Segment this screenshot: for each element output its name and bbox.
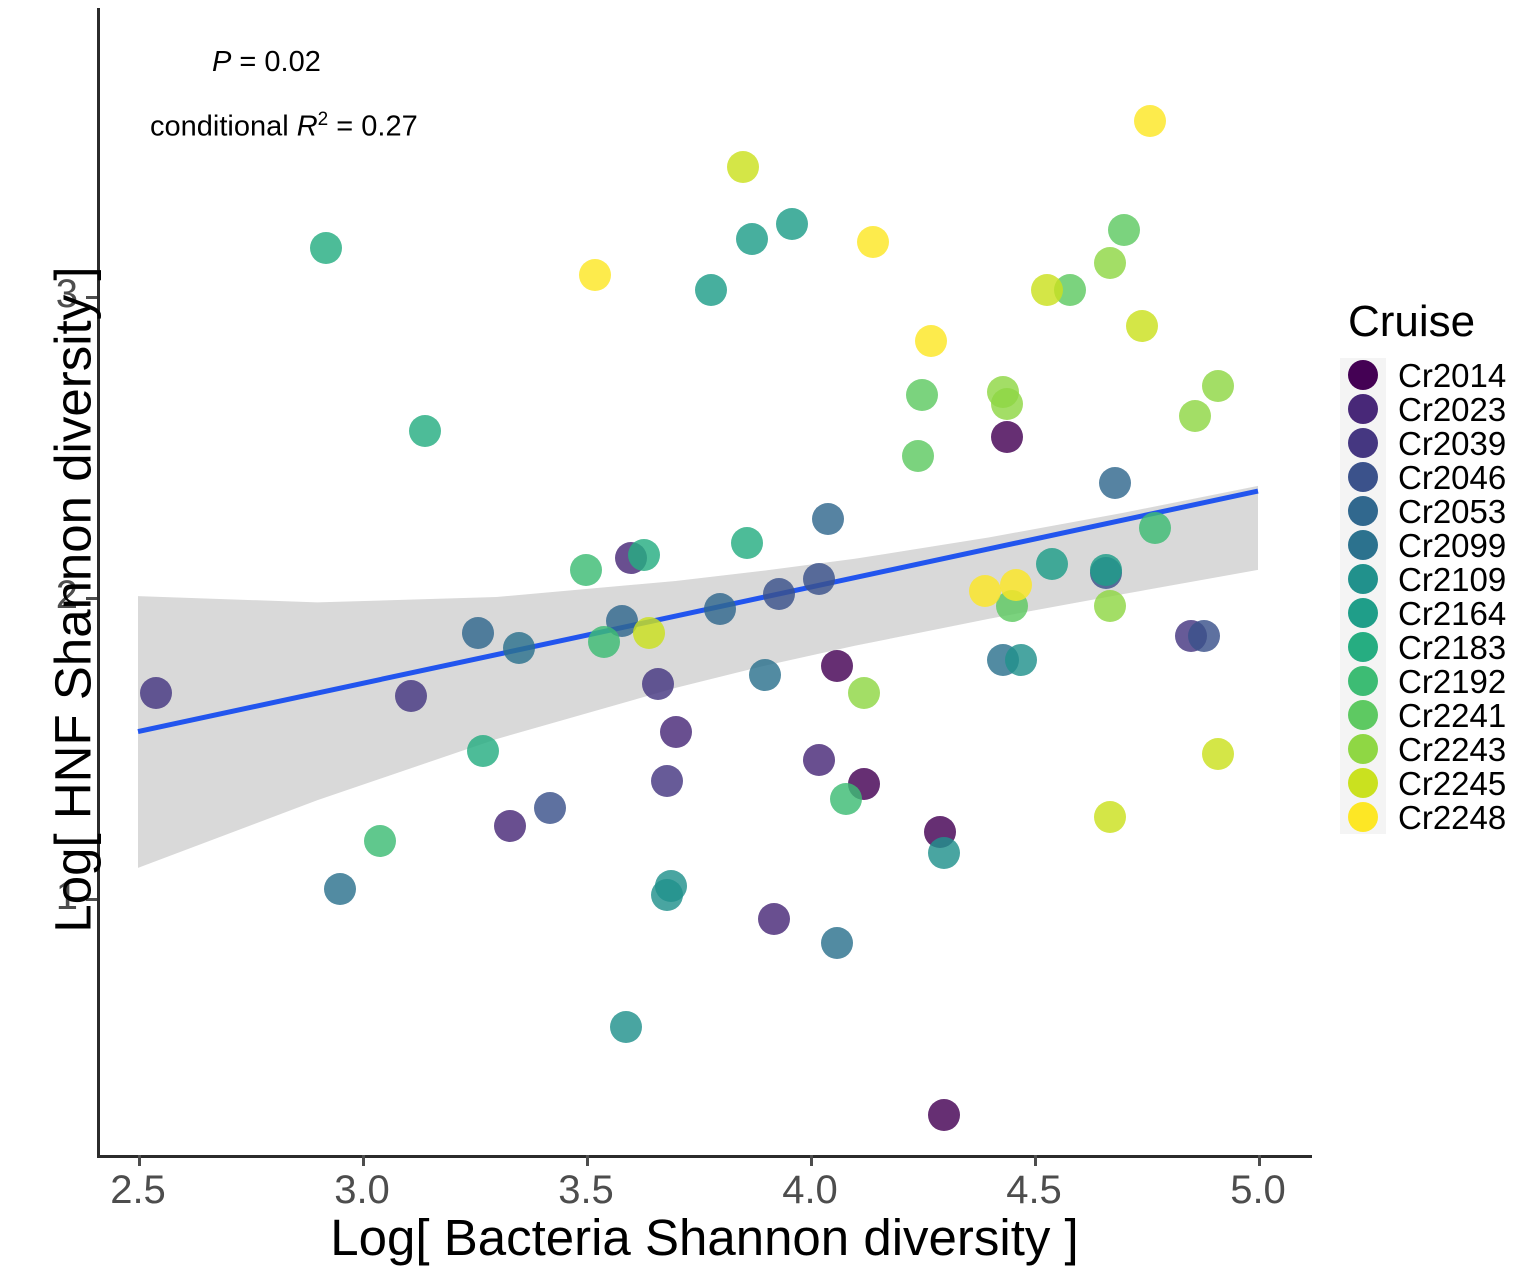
- legend-item-label: Cr2109: [1398, 563, 1506, 596]
- plot-panel: 2.53.03.54.04.55.0123 Log[ Bacteria Shan…: [0, 0, 1535, 1264]
- r2-value-text: = 0.27: [328, 111, 418, 143]
- legend-item-label: Cr2192: [1398, 665, 1506, 698]
- data-point: [503, 632, 535, 664]
- data-point: [588, 626, 620, 658]
- data-point: [731, 527, 763, 559]
- data-point: [1090, 554, 1122, 586]
- x-axis-tick-label: 3.5: [558, 1170, 614, 1210]
- legend-item-label: Cr2245: [1398, 767, 1506, 800]
- data-point: [1126, 310, 1158, 342]
- legend-swatch-icon: [1340, 562, 1386, 596]
- data-point: [534, 792, 566, 824]
- data-point: [1202, 738, 1234, 770]
- data-point: [1094, 590, 1126, 622]
- legend-item-label: Cr2023: [1398, 393, 1506, 426]
- legend-dot-icon: [1348, 734, 1378, 764]
- legend-item-cr2164[interactable]: Cr2164: [1340, 596, 1535, 630]
- legend-dot-icon: [1348, 428, 1378, 458]
- legend-item-cr2109[interactable]: Cr2109: [1340, 562, 1535, 596]
- data-point: [310, 232, 342, 264]
- legend-item-cr2243[interactable]: Cr2243: [1340, 732, 1535, 766]
- data-point: [651, 879, 683, 911]
- data-point: [848, 677, 880, 709]
- legend-swatch-icon: [1340, 664, 1386, 698]
- legend-swatch-icon: [1340, 800, 1386, 834]
- legend-swatch-icon: [1340, 596, 1386, 630]
- data-point: [1000, 569, 1032, 601]
- x-axis-tick-label: 3.0: [334, 1170, 390, 1210]
- data-point: [660, 716, 692, 748]
- data-point: [1094, 247, 1126, 279]
- legend-dot-icon: [1348, 700, 1378, 730]
- confidence-band: [138, 486, 1258, 868]
- legend-dot-icon: [1348, 496, 1378, 526]
- legend-item-label: Cr2099: [1398, 529, 1506, 562]
- data-point: [821, 650, 853, 682]
- data-point: [633, 617, 665, 649]
- data-point: [579, 259, 611, 291]
- legend-item-cr2039[interactable]: Cr2039: [1340, 426, 1535, 460]
- legend-item-label: Cr2241: [1398, 699, 1506, 732]
- legend-items: Cr2014Cr2023Cr2039Cr2046Cr2053Cr2099Cr21…: [1340, 358, 1535, 834]
- legend-item-cr2023[interactable]: Cr2023: [1340, 392, 1535, 426]
- data-point: [1094, 801, 1126, 833]
- r2-prefix: conditional: [150, 111, 297, 143]
- geometry-layer: [0, 0, 1535, 1264]
- x-axis-line: [97, 1155, 1312, 1158]
- data-point: [570, 554, 602, 586]
- data-point: [758, 903, 790, 935]
- legend-item-cr2245[interactable]: Cr2245: [1340, 766, 1535, 800]
- r2-superscript: 2: [318, 109, 329, 130]
- legend-swatch-icon: [1340, 460, 1386, 494]
- legend-title: Cruise: [1348, 300, 1535, 344]
- data-point: [494, 810, 526, 842]
- data-point: [928, 837, 960, 869]
- legend-swatch-icon: [1340, 766, 1386, 800]
- legend-item-label: Cr2014: [1398, 359, 1506, 392]
- x-axis-tick-label: 5.0: [1230, 1170, 1286, 1210]
- legend-dot-icon: [1348, 564, 1378, 594]
- data-point: [651, 765, 683, 797]
- legend-swatch-icon: [1340, 732, 1386, 766]
- data-point: [1005, 644, 1037, 676]
- x-axis-tick: [1258, 1155, 1261, 1166]
- data-point: [467, 735, 499, 767]
- data-point: [1036, 548, 1068, 580]
- legend-swatch-icon: [1340, 392, 1386, 426]
- data-point: [364, 825, 396, 857]
- data-point: [902, 440, 934, 472]
- data-point: [857, 226, 889, 258]
- legend-dot-icon: [1348, 632, 1378, 662]
- x-axis-tick-label: 4.0: [782, 1170, 838, 1210]
- data-point: [324, 873, 356, 905]
- data-point: [736, 223, 768, 255]
- x-axis-tick: [810, 1155, 813, 1166]
- legend: Cruise Cr2014Cr2023Cr2039Cr2046Cr2053Cr2…: [1340, 300, 1535, 834]
- y-axis-title: Log[ HNF Shannon diversity ]: [44, 50, 103, 1150]
- data-point: [409, 415, 441, 447]
- legend-item-label: Cr2039: [1398, 427, 1506, 460]
- legend-dot-icon: [1348, 598, 1378, 628]
- x-axis-tick: [138, 1155, 141, 1166]
- data-point: [140, 677, 172, 709]
- legend-item-cr2192[interactable]: Cr2192: [1340, 664, 1535, 698]
- p-value-text: = 0.02: [231, 46, 321, 78]
- x-axis-tick-label: 4.5: [1006, 1170, 1062, 1210]
- chart-root: 2.53.03.54.04.55.0123 Log[ Bacteria Shan…: [0, 0, 1535, 1264]
- legend-item-cr2053[interactable]: Cr2053: [1340, 494, 1535, 528]
- data-point: [763, 578, 795, 610]
- data-point: [812, 503, 844, 535]
- legend-dot-icon: [1348, 768, 1378, 798]
- legend-item-label: Cr2248: [1398, 801, 1506, 834]
- data-point: [1202, 370, 1234, 402]
- data-point: [928, 1099, 960, 1131]
- legend-item-cr2248[interactable]: Cr2248: [1340, 800, 1535, 834]
- p-value-annotation: P = 0.02: [212, 46, 321, 79]
- x-axis-tick: [586, 1155, 589, 1166]
- legend-dot-icon: [1348, 666, 1378, 696]
- legend-item-label: Cr2164: [1398, 597, 1506, 630]
- data-point: [1099, 467, 1131, 499]
- data-point: [803, 744, 835, 776]
- legend-item-label: Cr2053: [1398, 495, 1506, 528]
- legend-item-cr2099[interactable]: Cr2099: [1340, 528, 1535, 562]
- legend-item-cr2014[interactable]: Cr2014: [1340, 358, 1535, 392]
- legend-swatch-icon: [1340, 698, 1386, 732]
- legend-dot-icon: [1348, 360, 1378, 390]
- legend-swatch-icon: [1340, 494, 1386, 528]
- legend-swatch-icon: [1340, 426, 1386, 460]
- data-point: [1108, 214, 1140, 246]
- data-point: [776, 208, 808, 240]
- legend-item-label: Cr2183: [1398, 631, 1506, 664]
- data-point: [969, 575, 1001, 607]
- data-point: [821, 927, 853, 959]
- legend-swatch-icon: [1340, 528, 1386, 562]
- x-axis-tick: [1034, 1155, 1037, 1166]
- data-point: [803, 563, 835, 595]
- x-axis-title: Log[ Bacteria Shannon diversity ]: [97, 1208, 1312, 1267]
- legend-swatch-icon: [1340, 630, 1386, 664]
- legend-item-label: Cr2243: [1398, 733, 1506, 766]
- legend-item-cr2241[interactable]: Cr2241: [1340, 698, 1535, 732]
- legend-dot-icon: [1348, 802, 1378, 832]
- data-point: [987, 376, 1019, 408]
- legend-item-cr2046[interactable]: Cr2046: [1340, 460, 1535, 494]
- data-point: [915, 325, 947, 357]
- legend-dot-icon: [1348, 530, 1378, 560]
- r-squared-annotation: conditional R2 = 0.27: [150, 109, 418, 144]
- legend-dot-icon: [1348, 462, 1378, 492]
- p-symbol: P: [212, 46, 231, 78]
- x-axis-tick-label: 2.5: [110, 1170, 166, 1210]
- x-axis-tick: [362, 1155, 365, 1166]
- data-point: [830, 783, 862, 815]
- legend-dot-icon: [1348, 394, 1378, 424]
- data-point: [628, 539, 660, 571]
- legend-item-cr2183[interactable]: Cr2183: [1340, 630, 1535, 664]
- r2-symbol: R: [297, 111, 318, 143]
- data-point: [642, 668, 674, 700]
- data-point: [1139, 512, 1171, 544]
- legend-item-label: Cr2046: [1398, 461, 1506, 494]
- legend-swatch-icon: [1340, 358, 1386, 392]
- data-point: [727, 151, 759, 183]
